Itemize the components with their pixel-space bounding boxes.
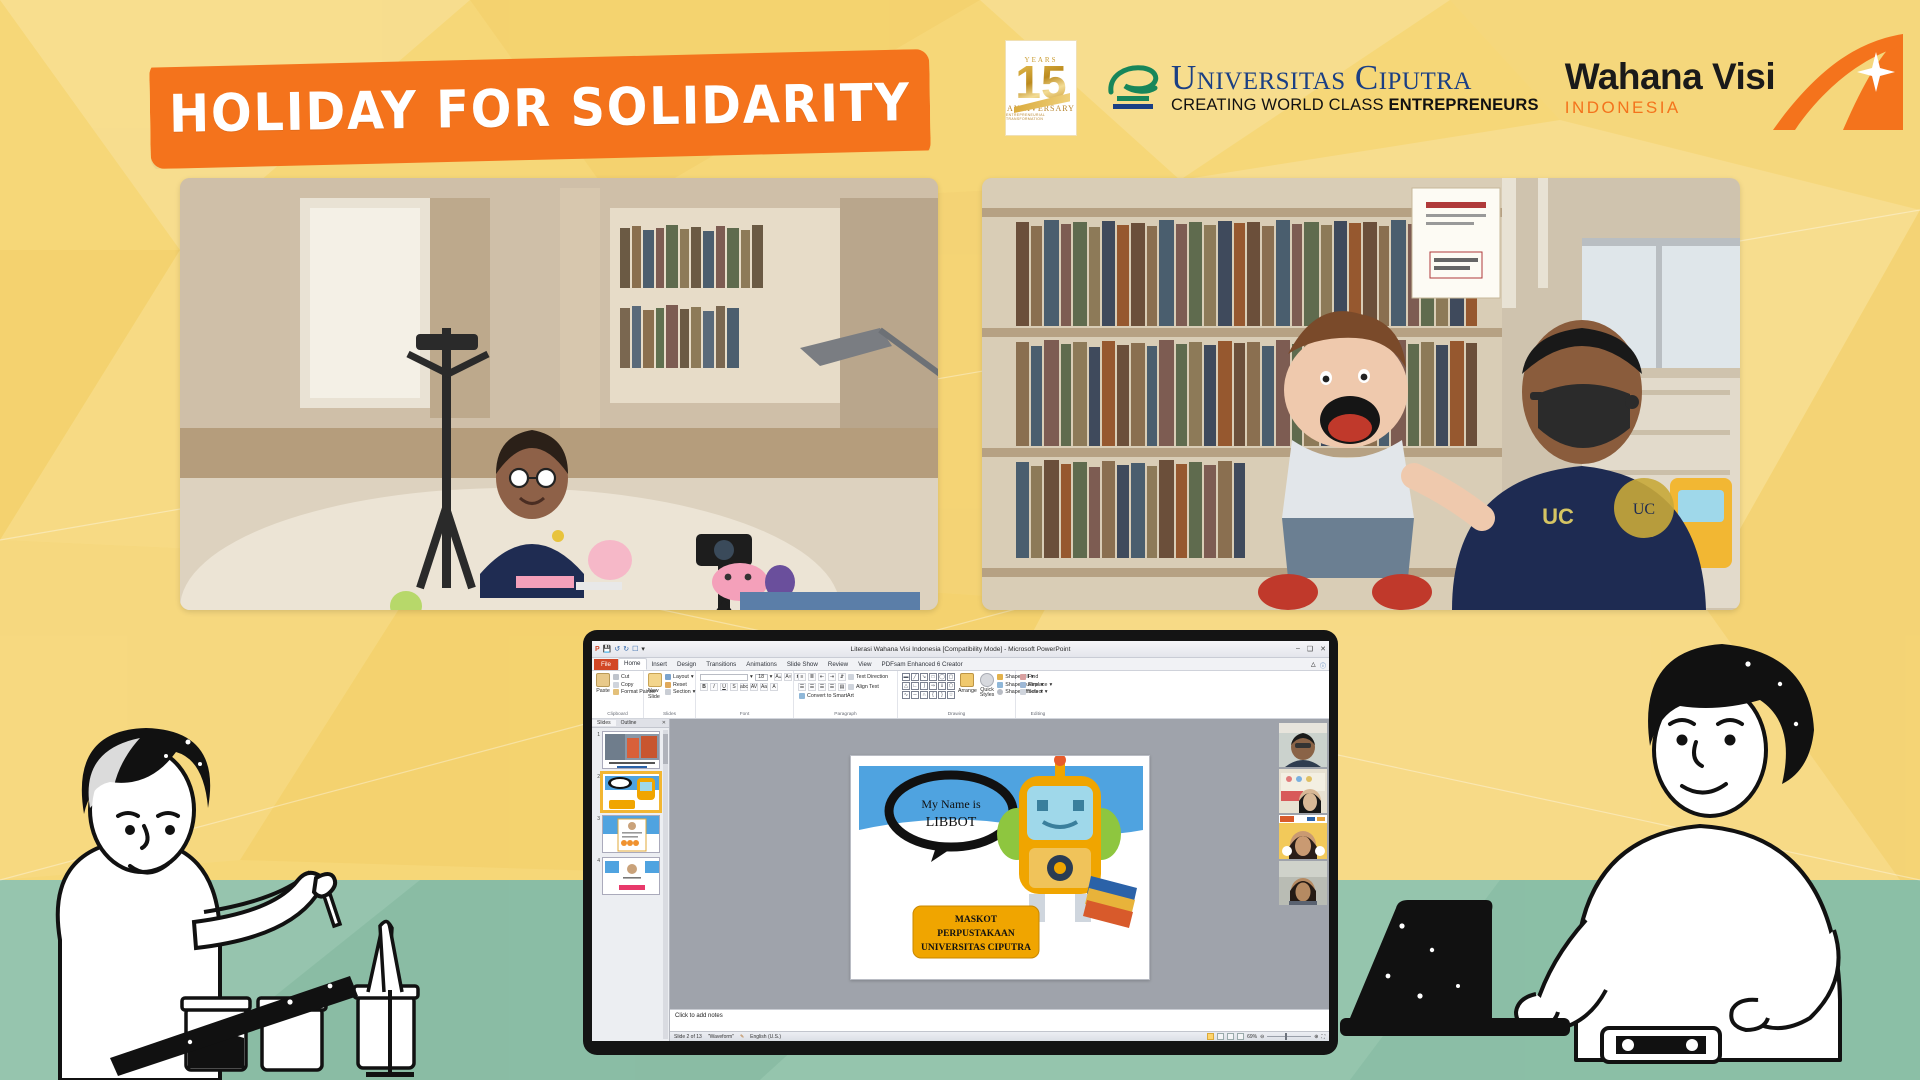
- shape-brace-left-icon[interactable]: {: [929, 691, 937, 699]
- universitas-ciputra-logo: Universitas Ciputra CREATING WORLD CLASS…: [1103, 61, 1539, 115]
- text-direction-button[interactable]: Text Direction: [848, 674, 888, 680]
- banner-title: HOLIDAY FOR SOLIDARITY: [180, 49, 899, 168]
- zoom-slider-handle[interactable]: [1285, 1033, 1287, 1040]
- powerpoint-window: P 💾 ↺ ↻ ☐ ▾ Literasi Wahana Visi Indones…: [592, 641, 1329, 1041]
- editing-group-label: Editing: [1020, 712, 1056, 718]
- align-left-button[interactable]: ☰: [798, 683, 806, 691]
- reset-button[interactable]: Reset: [665, 682, 695, 688]
- slide-pane-scrollbar[interactable]: [663, 730, 668, 1039]
- shape-star-icon[interactable]: ☆: [947, 691, 955, 699]
- banner: HOLIDAY FOR SOLIDARITY: [150, 55, 930, 163]
- thumbnail-row[interactable]: 4: [594, 857, 667, 895]
- close-icon[interactable]: ✕: [1320, 645, 1326, 653]
- ribbon-tab-bar[interactable]: File Home Insert Design Transitions Anim…: [592, 658, 1329, 671]
- illustration-man-with-laptop: [1340, 620, 1920, 1080]
- shape-corner-icon[interactable]: ⌋: [920, 682, 928, 690]
- tab-home[interactable]: Home: [618, 658, 647, 670]
- cut-icon: [613, 674, 619, 680]
- status-bar-right[interactable]: 69% ⊖ ⊕ ⛶: [1207, 1033, 1325, 1040]
- slide-canvas[interactable]: MASKOT PERPUSTAKAAN UNIVERSITAS CIPUTRA …: [670, 719, 1329, 1009]
- shape-arc-icon[interactable]: ∩: [920, 691, 928, 699]
- normal-view-button[interactable]: [1207, 1033, 1214, 1040]
- svg-text:MASKOT: MASKOT: [954, 915, 997, 925]
- zoom-slider[interactable]: [1267, 1036, 1311, 1037]
- shape-gallery[interactable]: ▬ ╱ ↘ □ ◯ ▢ △ ∟ ⌋ ⇒ ⇓ ⬠ ∿ ∼ ∩: [902, 673, 955, 699]
- language-indicator[interactable]: English (U.S.): [750, 1034, 781, 1040]
- help-icon[interactable]: ⓘ: [1320, 661, 1326, 670]
- spellcheck-icon[interactable]: ✎: [740, 1034, 744, 1040]
- shape-brace-right-icon[interactable]: }: [938, 691, 946, 699]
- shape-triangle-icon[interactable]: △: [902, 682, 910, 690]
- zoom-in-button[interactable]: ⊕: [1314, 1034, 1318, 1040]
- reset-icon: [665, 682, 671, 688]
- thumbnail-row[interactable]: 2: [594, 773, 667, 811]
- character-spacing-button[interactable]: AV: [750, 683, 758, 691]
- svg-text:PERPUSTAKAAN: PERPUSTAKAAN: [937, 929, 1015, 939]
- shape-pentagon-icon[interactable]: ⬠: [947, 682, 955, 690]
- copy-icon: [613, 682, 619, 688]
- select-icon: [1020, 689, 1026, 695]
- video-tile-1[interactable]: [1279, 723, 1327, 767]
- section-icon: [665, 689, 671, 695]
- underline-button[interactable]: U: [720, 683, 728, 691]
- minimize-ribbon-icon[interactable]: △: [1311, 661, 1316, 670]
- thumbnail-row[interactable]: 3: [594, 815, 667, 853]
- quick-styles-icon: [980, 673, 994, 687]
- shape-effects-icon: [997, 689, 1003, 695]
- text-direction-icon: [848, 674, 854, 680]
- powerpoint-title-bar: P 💾 ↺ ↻ ☐ ▾ Literasi Wahana Visi Indones…: [592, 641, 1329, 658]
- strikethrough-button[interactable]: abc: [740, 683, 748, 691]
- thumbnail-row[interactable]: 1: [594, 731, 667, 769]
- align-center-button[interactable]: ☰: [808, 683, 816, 691]
- slide-edit-area: MASKOT PERPUSTAKAAN UNIVERSITAS CIPUTRA …: [670, 719, 1329, 1041]
- tab-review[interactable]: Review: [823, 660, 853, 670]
- align-right-button[interactable]: ☰: [818, 683, 826, 691]
- change-case-button[interactable]: Aa: [760, 683, 768, 691]
- thumbnail-number: 4: [594, 857, 600, 864]
- font-family-input[interactable]: [700, 674, 748, 681]
- video-tile-2[interactable]: [1279, 769, 1327, 813]
- ribbon-group-editing: Find Replace▾ Select▾ Editing: [1016, 671, 1060, 718]
- shape-rect-icon[interactable]: ▬: [902, 673, 910, 681]
- svg-text:UC: UC: [1542, 504, 1574, 529]
- wahana-swoosh-icon: [1743, 34, 1903, 130]
- tab-pdfsam[interactable]: PDFsam Enhanced 6 Creator: [876, 660, 967, 670]
- paste-label: Paste: [596, 688, 610, 694]
- find-button[interactable]: Find: [1020, 674, 1052, 680]
- decrease-indent-button[interactable]: ⇤: [818, 673, 826, 681]
- zoom-out-button[interactable]: ⊖: [1260, 1034, 1264, 1040]
- ribbon[interactable]: Paste Cut Copy Format Painter Clipboard …: [592, 671, 1329, 719]
- new-slide-icon: [648, 673, 662, 687]
- shape-square-icon[interactable]: □: [929, 673, 937, 681]
- university-name: Universitas Ciputra: [1171, 61, 1539, 95]
- tab-file[interactable]: File: [594, 659, 618, 670]
- slide-sorter-view-button[interactable]: [1217, 1033, 1224, 1040]
- shape-elbow-icon[interactable]: ∟: [911, 682, 919, 690]
- restore-icon[interactable]: ❑: [1307, 645, 1313, 653]
- tab-animations[interactable]: Animations: [741, 660, 782, 670]
- ribbon-group-drawing: ▬ ╱ ↘ □ ◯ ▢ △ ∟ ⌋ ⇒ ⇓ ⬠ ∿ ∼ ∩: [898, 671, 1016, 718]
- photo-presenter-at-desk: [180, 178, 938, 610]
- slide-thumbnail-list[interactable]: 1 2 3: [592, 728, 669, 1041]
- tab-insert[interactable]: Insert: [647, 660, 672, 670]
- format-painter-icon: [613, 689, 619, 695]
- ribbon-group-clipboard: Paste Cut Copy Format Painter Clipboard: [592, 671, 644, 718]
- clipboard-group-label: Clipboard: [596, 712, 639, 718]
- shape-arrow-right-icon[interactable]: ⇒: [929, 682, 937, 690]
- paste-icon: [596, 673, 610, 687]
- minimize-icon[interactable]: –: [1296, 645, 1300, 653]
- thumbnail-number: 1: [594, 731, 600, 738]
- anniversary-tagline: ENTREPRENEURIAL TRANSFORMATION: [1006, 113, 1076, 121]
- document-title: Literasi Wahana Visi Indonesia [Compatib…: [592, 646, 1329, 653]
- bubble-line-2: LIBBOT: [925, 815, 976, 830]
- anniversary-number: 15: [1015, 62, 1066, 102]
- bold-button[interactable]: B: [700, 683, 708, 691]
- find-icon: [1020, 674, 1026, 680]
- ciputra-emblem-icon: [1103, 62, 1161, 114]
- tab-view[interactable]: View: [853, 660, 876, 670]
- status-bar: Slide 2 of 13 "Waveform" ✎ English (U.S.…: [670, 1031, 1329, 1041]
- tab-design[interactable]: Design: [672, 660, 701, 670]
- slide-thumbnail-4[interactable]: [602, 857, 660, 895]
- new-slide-button[interactable]: New Slide: [648, 673, 662, 700]
- tab-slide-show[interactable]: Slide Show: [782, 660, 823, 670]
- university-tagline: CREATING WORLD CLASS ENTREPRENEURS: [1171, 96, 1539, 115]
- paragraph-group-label: Paragraph: [798, 712, 893, 718]
- shape-outline-icon: [997, 682, 1003, 688]
- anniversary-logo: YEARS 15 ANNIVERSARY ENTREPRENEURIAL TRA…: [1005, 40, 1077, 136]
- shape-arrow-icon[interactable]: ↘: [920, 673, 928, 681]
- section-button[interactable]: Section▾: [665, 689, 695, 695]
- window-controls[interactable]: – ❑ ✕: [1296, 645, 1326, 653]
- font-group-label: Font: [700, 712, 789, 718]
- align-text-button[interactable]: Align Text: [848, 684, 879, 690]
- notes-placeholder: Click to add notes: [675, 1013, 723, 1019]
- font-color-button[interactable]: A: [770, 683, 778, 691]
- arrange-label: Arrange: [958, 688, 977, 694]
- shape-oval-icon[interactable]: ◯: [938, 673, 946, 681]
- layout-button[interactable]: Layout▾: [665, 674, 695, 680]
- slide-thumbnail-3[interactable]: [602, 815, 660, 853]
- shape-freeform-icon[interactable]: ∿: [902, 691, 910, 699]
- close-pane-icon[interactable]: ✕: [662, 720, 669, 726]
- shrink-font-button[interactable]: A▿: [784, 673, 792, 681]
- wahana-visi-logo: Wahana Visi INDONESIA: [1565, 58, 1785, 118]
- slide-counter: Slide 2 of 13: [674, 1034, 702, 1040]
- shape-rounded-rect-icon[interactable]: ▢: [947, 673, 955, 681]
- photo-puppet-in-library: UC UC: [982, 178, 1740, 610]
- slide-pane-scroll-thumb[interactable]: [663, 734, 668, 764]
- slide-thumbnail-pane[interactable]: Slides Outline ✕ 1 2: [592, 719, 670, 1041]
- ribbon-group-font: ▾ 18 ▾ A▵ A▿ ✖ B I U S abc AV Aa: [696, 671, 794, 718]
- bullets-button[interactable]: ≡: [798, 673, 806, 681]
- select-button[interactable]: Select▾: [1020, 689, 1052, 695]
- slide-show-view-button[interactable]: [1237, 1033, 1244, 1040]
- replace-icon: [1020, 682, 1026, 688]
- replace-button[interactable]: Replace▾: [1020, 682, 1052, 688]
- line-spacing-button[interactable]: ⇵: [838, 673, 846, 681]
- smartart-icon: [799, 693, 805, 699]
- italic-button[interactable]: I: [710, 683, 718, 691]
- justify-button[interactable]: ☰: [828, 683, 836, 691]
- new-slide-label: New Slide: [648, 688, 662, 700]
- video-tile-3[interactable]: [1279, 815, 1327, 859]
- shape-curve-icon[interactable]: ∼: [911, 691, 919, 699]
- notes-pane[interactable]: Click to add notes: [670, 1009, 1329, 1031]
- columns-button[interactable]: ▤: [838, 683, 846, 691]
- tab-transitions[interactable]: Transitions: [701, 660, 741, 670]
- ribbon-group-slides: New Slide Layout▾ Reset Section▾ Slides: [644, 671, 696, 718]
- shape-line-icon[interactable]: ╱: [911, 673, 919, 681]
- align-text-icon: [848, 684, 854, 690]
- font-size-input[interactable]: 18: [755, 674, 768, 681]
- convert-to-smartart-button[interactable]: Convert to SmartArt: [798, 693, 854, 699]
- layout-icon: [665, 674, 671, 680]
- illustration-woman-painting: [0, 690, 510, 1080]
- shadow-button[interactable]: S: [730, 683, 738, 691]
- tablet-device: P 💾 ↺ ↻ ☐ ▾ Literasi Wahana Visi Indones…: [583, 630, 1338, 1055]
- theme-name: "Waveform": [708, 1034, 734, 1040]
- video-participant-column[interactable]: [1279, 723, 1327, 905]
- slide-thumbnail-2[interactable]: [602, 773, 660, 811]
- slide-pane-tabs[interactable]: Slides Outline ✕: [592, 719, 669, 728]
- slides-group-label: Slides: [648, 712, 691, 718]
- increase-indent-button[interactable]: ⇥: [828, 673, 836, 681]
- current-slide[interactable]: MASKOT PERPUSTAKAAN UNIVERSITAS CIPUTRA …: [850, 755, 1150, 980]
- drawing-group-label: Drawing: [902, 712, 1011, 718]
- fit-slide-button[interactable]: ⛶: [1321, 1034, 1325, 1040]
- ribbon-group-paragraph: ≡ ≣ ⇤ ⇥ ⇵ Text Direction ☰ ☰ ☰ ☰ ▤ Align…: [794, 671, 898, 718]
- slide-thumbnail-1[interactable]: [602, 731, 660, 769]
- paste-button[interactable]: Paste: [596, 673, 610, 694]
- thumbnail-number: 2: [594, 773, 600, 780]
- shape-arrow-down-icon[interactable]: ⇓: [938, 682, 946, 690]
- tab-slides[interactable]: Slides: [592, 720, 616, 726]
- powerpoint-body: Slides Outline ✕ 1 2: [592, 719, 1329, 1041]
- arrange-button[interactable]: Arrange: [958, 673, 977, 694]
- tab-outline[interactable]: Outline: [616, 720, 642, 726]
- logo-row: YEARS 15 ANNIVERSARY ENTREPRENEURIAL TRA…: [1005, 38, 1785, 138]
- shape-fill-icon: [997, 674, 1003, 680]
- arrange-icon: [960, 673, 974, 687]
- thumbnail-number: 3: [594, 815, 600, 822]
- svg-text:UC: UC: [1633, 501, 1655, 518]
- quick-styles-label: Quick Styles: [980, 688, 994, 698]
- quick-styles-button[interactable]: Quick Styles: [980, 673, 994, 698]
- numbering-button[interactable]: ≣: [808, 673, 816, 681]
- reading-view-button[interactable]: [1227, 1033, 1234, 1040]
- grow-font-button[interactable]: A▵: [774, 673, 782, 681]
- svg-text:UNIVERSITAS CIPUTRA: UNIVERSITAS CIPUTRA: [921, 943, 1031, 953]
- video-tile-4[interactable]: [1279, 861, 1327, 905]
- zoom-level: 69%: [1247, 1034, 1257, 1040]
- bubble-line-1: My Name is: [921, 797, 981, 811]
